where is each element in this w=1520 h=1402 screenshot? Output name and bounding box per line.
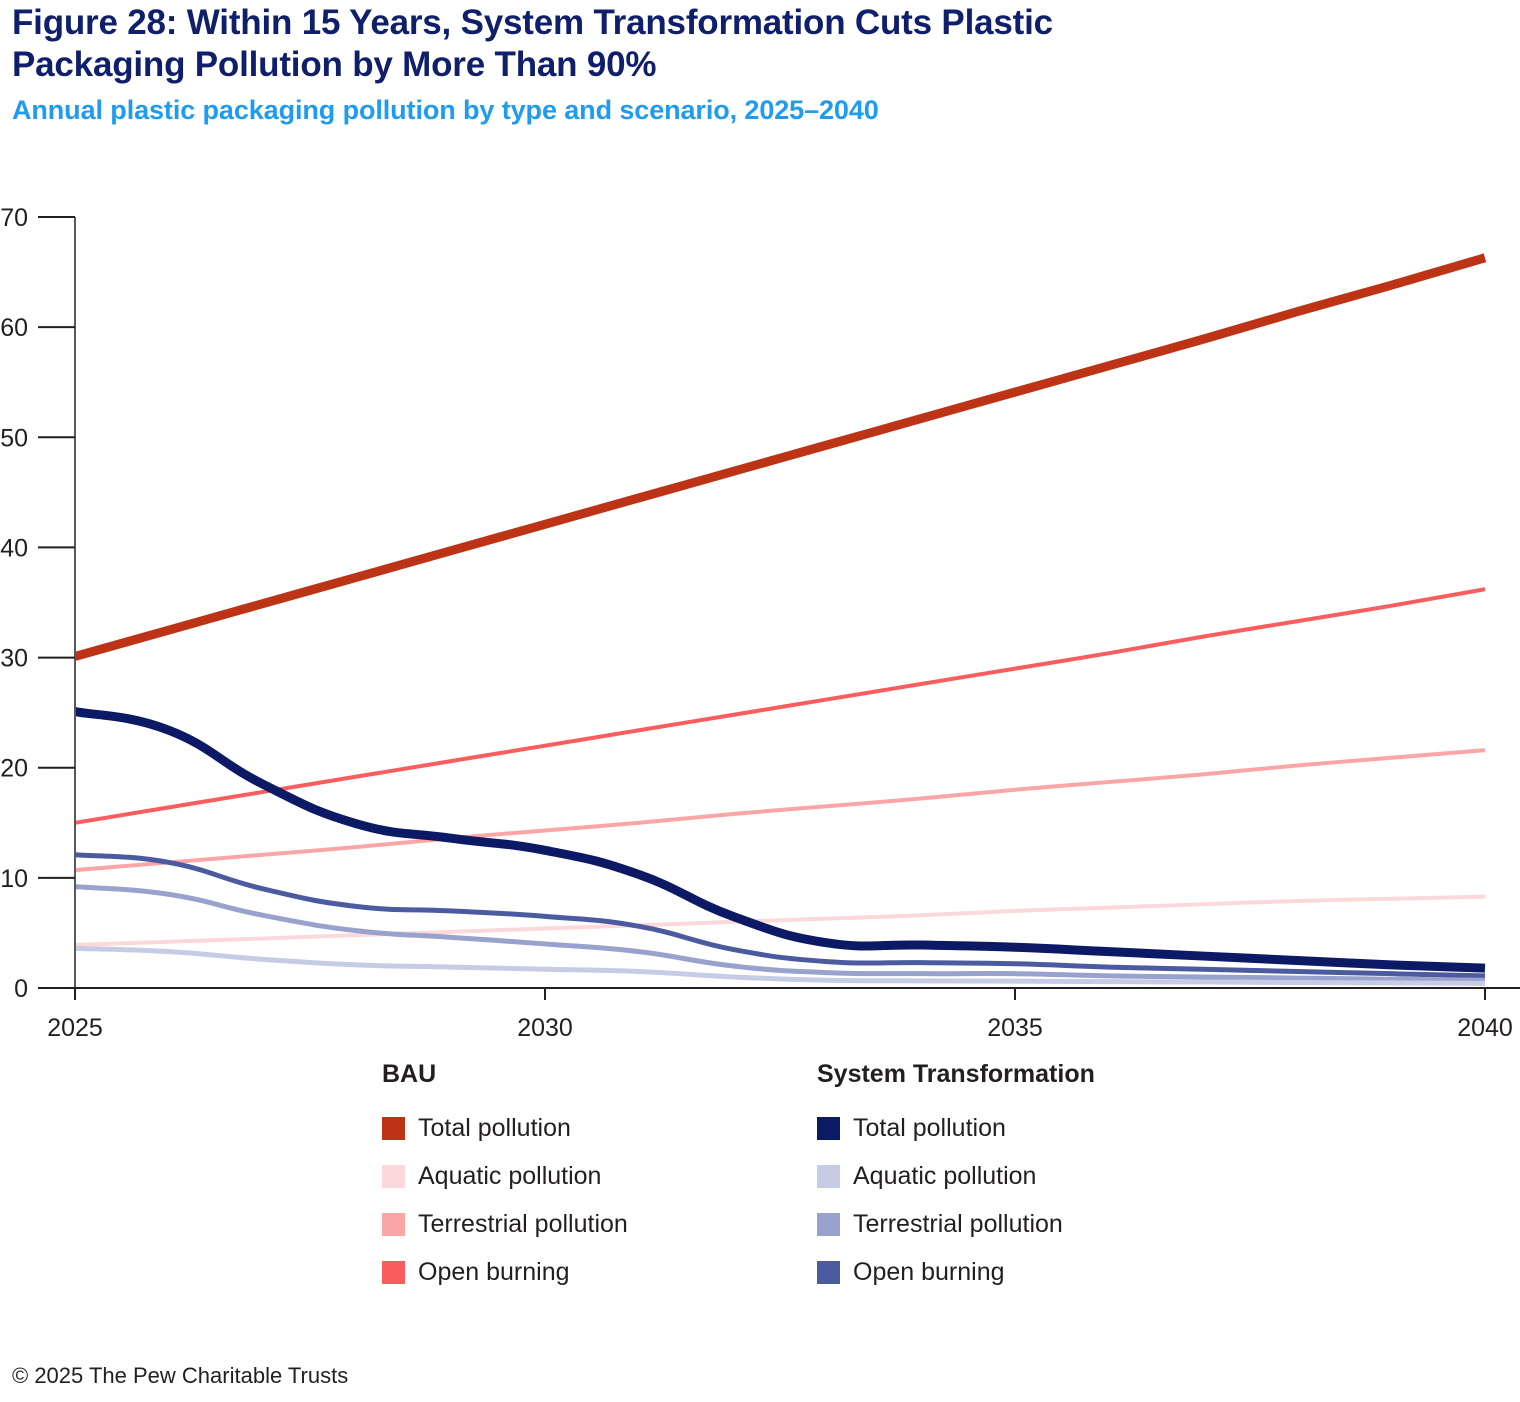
legend-swatch-icon — [382, 1165, 405, 1188]
legend-swatch-icon — [817, 1117, 840, 1140]
legend-item-label: Total pollution — [418, 1116, 571, 1141]
y-axis-tick-label: 40 — [0, 534, 28, 562]
x-axis-tick-label: 2030 — [517, 1014, 573, 1042]
legend-item-label: Terrestrial pollution — [418, 1212, 628, 1237]
x-axis-tick-label: 2035 — [987, 1014, 1043, 1042]
y-axis-ticks: 010203040506070 — [0, 204, 75, 1003]
legend-item-bau-total[interactable]: Total pollution — [382, 1105, 628, 1151]
y-axis-tick-label: 60 — [0, 314, 28, 342]
legend-swatch-icon — [817, 1213, 840, 1236]
title-block: Figure 28: Within 15 Years, System Trans… — [12, 2, 1342, 128]
legend-item-bau-terrestrial[interactable]: Terrestrial pollution — [382, 1201, 628, 1247]
chart-line-bau-total-pollution — [75, 258, 1485, 657]
page-subtitle: Annual plastic packaging pollution by ty… — [12, 94, 1342, 128]
legend-item-label: Open burning — [418, 1260, 570, 1285]
legend-group-bau: BAU Total pollution Aquatic pollution Te… — [382, 1062, 628, 1297]
legend-item-st-aquatic[interactable]: Aquatic pollution — [817, 1153, 1095, 1199]
figure-page: Figure 28: Within 15 Years, System Trans… — [0, 0, 1520, 1402]
legend-item-st-total[interactable]: Total pollution — [817, 1105, 1095, 1151]
legend-item-bau-open-burning[interactable]: Open burning — [382, 1249, 628, 1295]
legend-heading-bau: BAU — [382, 1062, 628, 1087]
chart-line-st-total-pollution — [75, 712, 1485, 969]
chart-line-bau-terrestrial-pollution — [75, 750, 1485, 870]
legend-swatch-icon — [817, 1165, 840, 1188]
y-axis-tick-label: 10 — [0, 865, 28, 893]
legend-swatch-icon — [382, 1261, 405, 1284]
legend-item-label: Total pollution — [853, 1116, 1006, 1141]
x-axis-ticks: 2025203020352040 — [47, 988, 1513, 1042]
chart-legend: BAU Total pollution Aquatic pollution Te… — [0, 1062, 1520, 1322]
page-title: Figure 28: Within 15 Years, System Trans… — [12, 2, 1342, 86]
chart-series-group — [75, 258, 1485, 984]
y-axis-tick-label: 20 — [0, 755, 28, 783]
y-axis-tick-label: 0 — [14, 975, 28, 1003]
chart-line-bau-open-burning — [75, 589, 1485, 823]
legend-item-label: Terrestrial pollution — [853, 1212, 1063, 1237]
y-axis-tick-label: 30 — [0, 645, 28, 673]
x-axis-tick-label: 2025 — [47, 1014, 103, 1042]
legend-item-bau-aquatic[interactable]: Aquatic pollution — [382, 1153, 628, 1199]
legend-swatch-icon — [817, 1261, 840, 1284]
legend-item-label: Aquatic pollution — [853, 1164, 1036, 1189]
y-axis-tick-label: 70 — [0, 204, 28, 232]
x-axis-tick-label: 2040 — [1457, 1014, 1513, 1042]
legend-swatch-icon — [382, 1213, 405, 1236]
line-chart: 010203040506070 2025203020352040 — [0, 180, 1520, 1050]
legend-item-st-open-burning[interactable]: Open burning — [817, 1249, 1095, 1295]
copyright-text: © 2025 The Pew Charitable Trusts — [12, 1365, 348, 1387]
chart-container: 010203040506070 2025203020352040 — [0, 180, 1520, 1050]
legend-item-label: Open burning — [853, 1260, 1005, 1285]
legend-swatch-icon — [382, 1117, 405, 1140]
legend-item-label: Aquatic pollution — [418, 1164, 601, 1189]
legend-group-system-transformation: System Transformation Total pollution Aq… — [817, 1062, 1095, 1297]
y-axis-tick-label: 50 — [0, 424, 28, 452]
legend-heading-system-transformation: System Transformation — [817, 1062, 1095, 1087]
legend-item-st-terrestrial[interactable]: Terrestrial pollution — [817, 1201, 1095, 1247]
